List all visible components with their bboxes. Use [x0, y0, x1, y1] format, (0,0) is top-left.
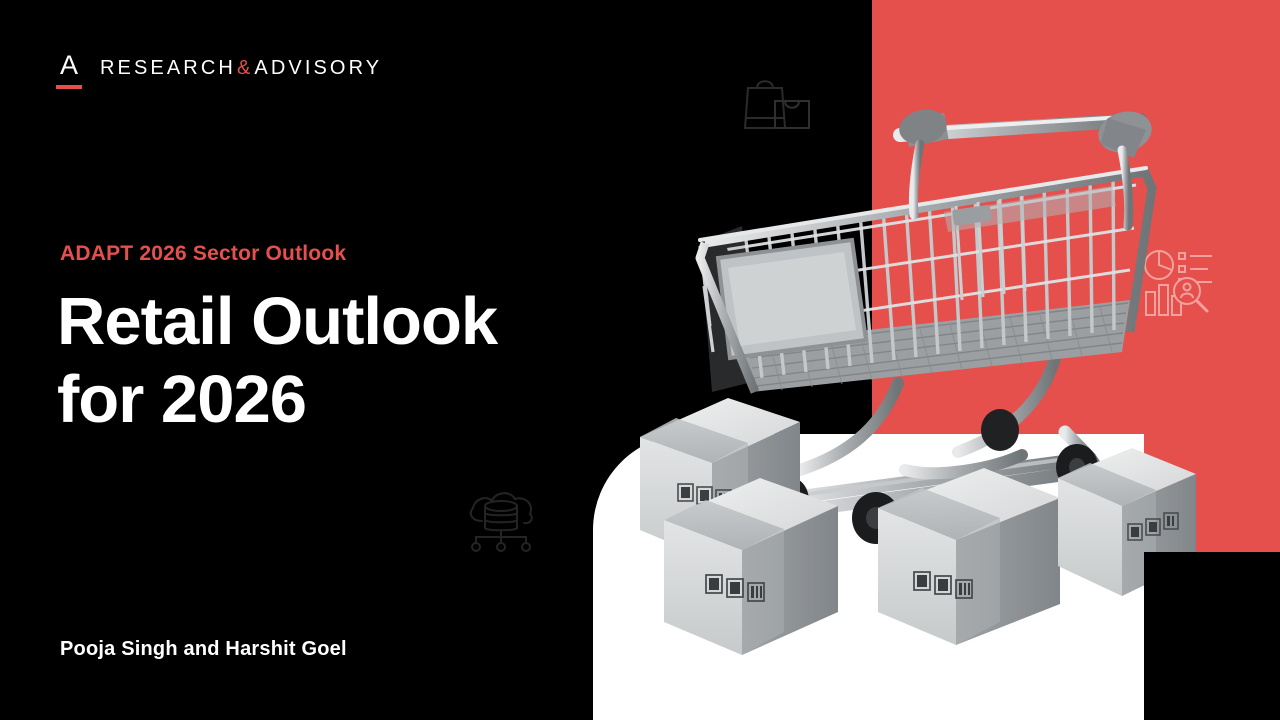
logo-a-letter: A — [54, 50, 84, 80]
logo-word-research: RESEARCH — [100, 57, 236, 80]
page-title: Retail Outlook for 2026 — [57, 283, 577, 438]
market-research-icon — [1142, 248, 1218, 323]
cloud-database-icon — [462, 487, 540, 562]
logo-wordmark: RESEARCH & ADVISORY — [100, 52, 382, 84]
author-byline: Pooja Singh and Harshit Goel — [60, 638, 347, 661]
eyebrow-label: ADAPT 2026 Sector Outlook — [60, 242, 346, 266]
shopping-bags-icon — [742, 72, 814, 141]
brand-logo[interactable]: A RESEARCH & ADVISORY — [54, 52, 382, 90]
white-rounded-panel — [593, 434, 1144, 720]
title-line-1: Retail Outlook — [57, 283, 577, 361]
logo-underline — [56, 85, 82, 89]
logo-ampersand: & — [236, 57, 254, 80]
presentation-slide: A RESEARCH & ADVISORY ADAPT 2026 Sector … — [0, 0, 1280, 720]
logo-word-advisory: ADVISORY — [254, 57, 382, 80]
logo-a-mark: A — [54, 52, 84, 90]
title-line-2: for 2026 — [57, 361, 577, 439]
white-panel-bottom-right-notch — [1144, 552, 1280, 720]
